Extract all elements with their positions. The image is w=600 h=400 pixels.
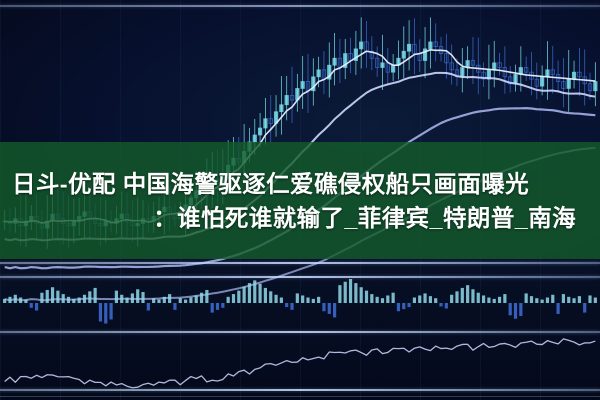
- chart-baseline-rule: [0, 396, 600, 397]
- chart-bottom-rule: [0, 389, 600, 391]
- title-line-1: 日斗-优配 中国海警驱逐仁爱礁侵权船只画面曝光: [12, 167, 529, 201]
- oscillator-panel-top-rule: [0, 331, 600, 333]
- volume-panel-top-rule: [0, 262, 600, 264]
- chart-top-rule: [0, 5, 600, 7]
- volume-panel-inner-rule: [0, 276, 600, 278]
- title-banner: 日斗-优配 中国海警驱逐仁爱礁侵权船只画面曝光 ：谁怕死谁就输了_菲律宾_特朗普…: [0, 142, 600, 259]
- thumbnail-image: 日斗-优配 中国海警驱逐仁爱礁侵权船只画面曝光 ：谁怕死谁就输了_菲律宾_特朗普…: [0, 0, 600, 400]
- title-line-2: ：谁怕死谁就输了_菲律宾_特朗普_南海: [153, 201, 576, 235]
